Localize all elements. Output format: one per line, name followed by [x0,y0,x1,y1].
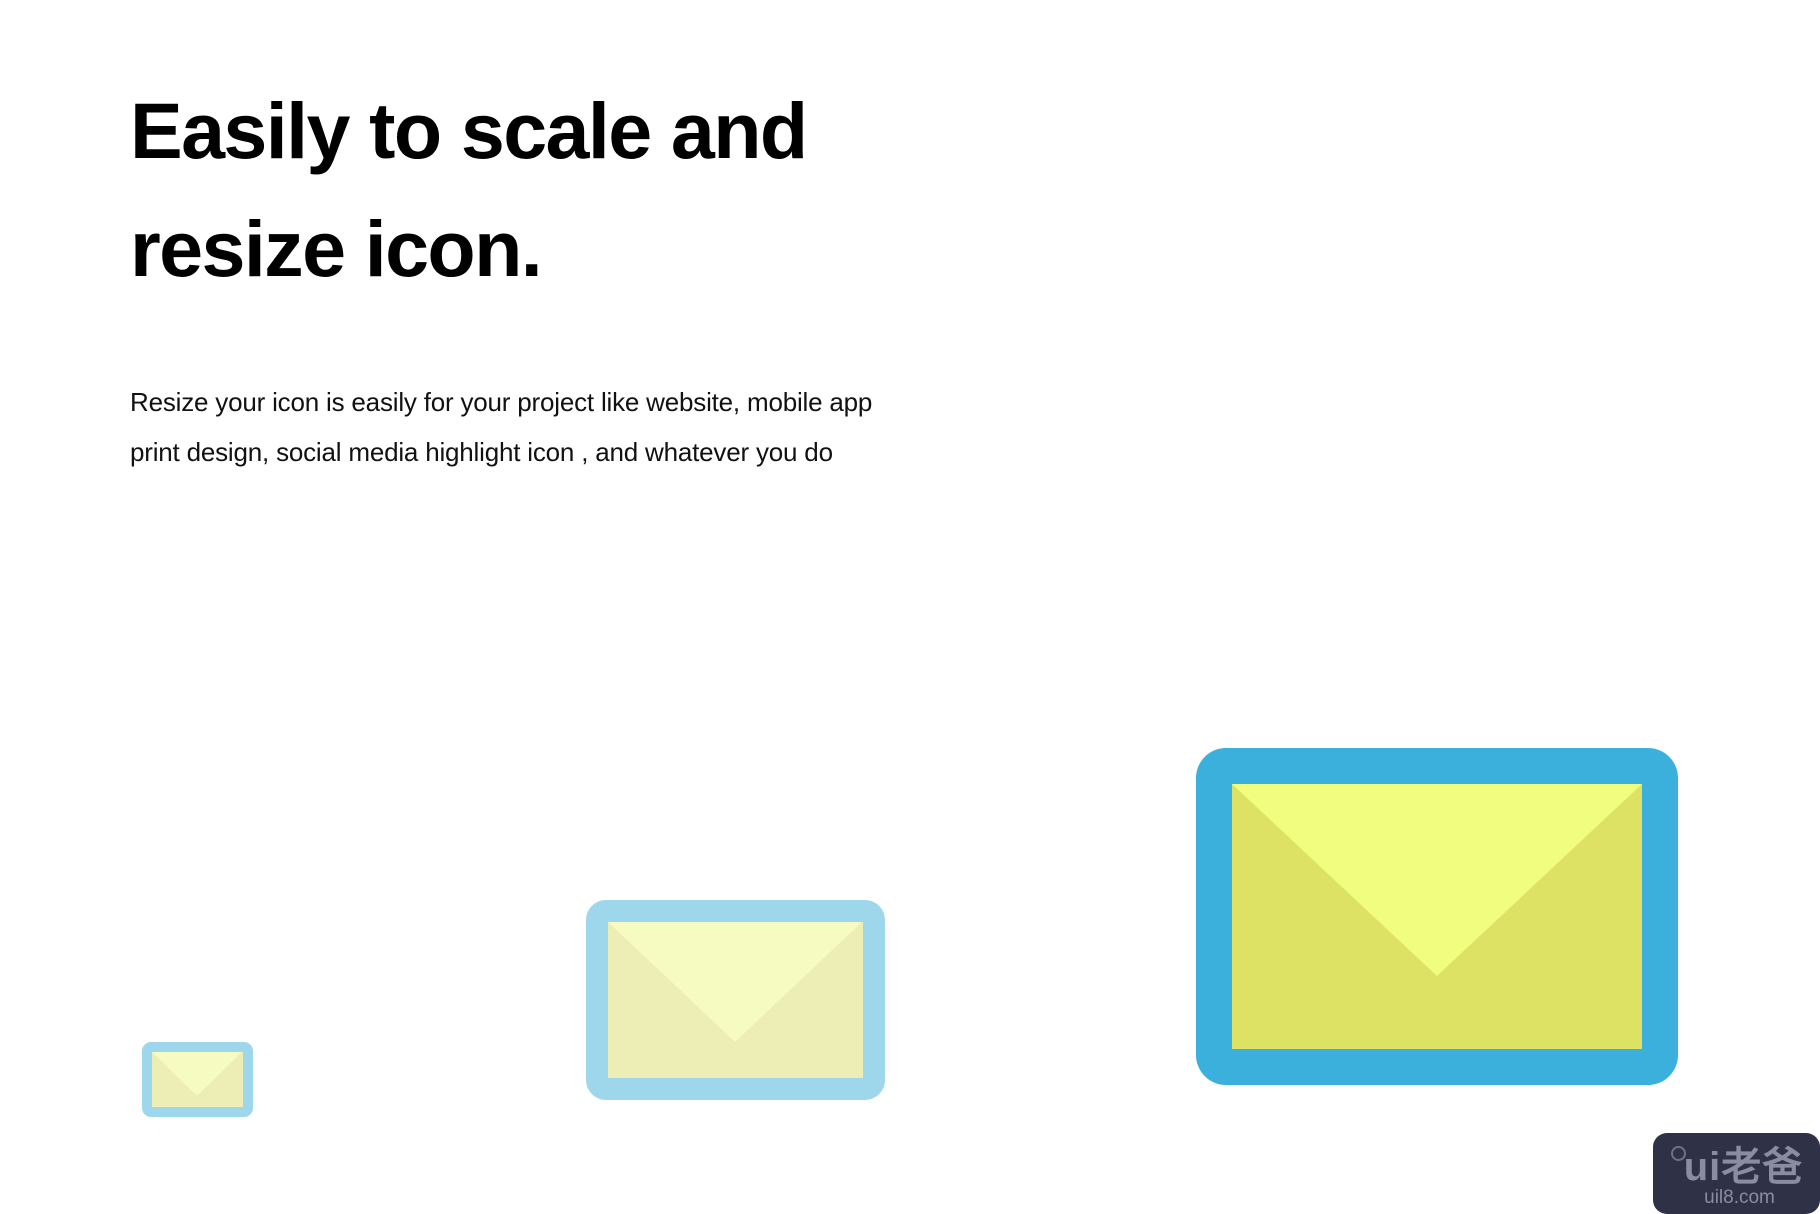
envelope-medium-flap [608,922,862,1042]
envelope-small-flap [152,1052,242,1096]
watermark-badge: ui老爸 uil8.com [1653,1133,1820,1214]
watermark-url-text: uil8.com [1653,1187,1820,1209]
envelope-medium-inner [608,922,863,1078]
page-description: Resize your icon is easily for your proj… [130,377,1000,477]
envelope-small-icon [142,1042,253,1117]
text-block: Easily to scale and resize icon. Resize … [130,72,1130,308]
envelope-medium-icon [586,900,885,1100]
envelope-large-flap [1232,784,1642,976]
envelope-large-inner [1232,784,1642,1049]
watermark-logo-text: ui老爸 [1653,1145,1820,1189]
envelope-large-icon [1196,748,1678,1085]
envelope-small-inner [152,1052,243,1107]
page-canvas: Easily to scale and resize icon. Resize … [0,0,1820,1214]
page-title: Easily to scale and resize icon. [130,72,1130,308]
